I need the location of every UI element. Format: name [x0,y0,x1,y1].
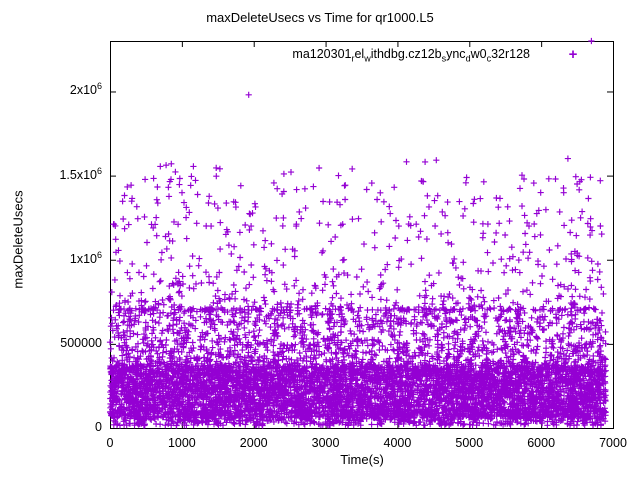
scatter-points [107,38,609,429]
plot-canvas [0,0,640,480]
scatter-series-points [107,38,609,429]
gnuplot-chart: maxDeleteUsecs vs Time for qr1000.L5 max… [0,0,640,480]
